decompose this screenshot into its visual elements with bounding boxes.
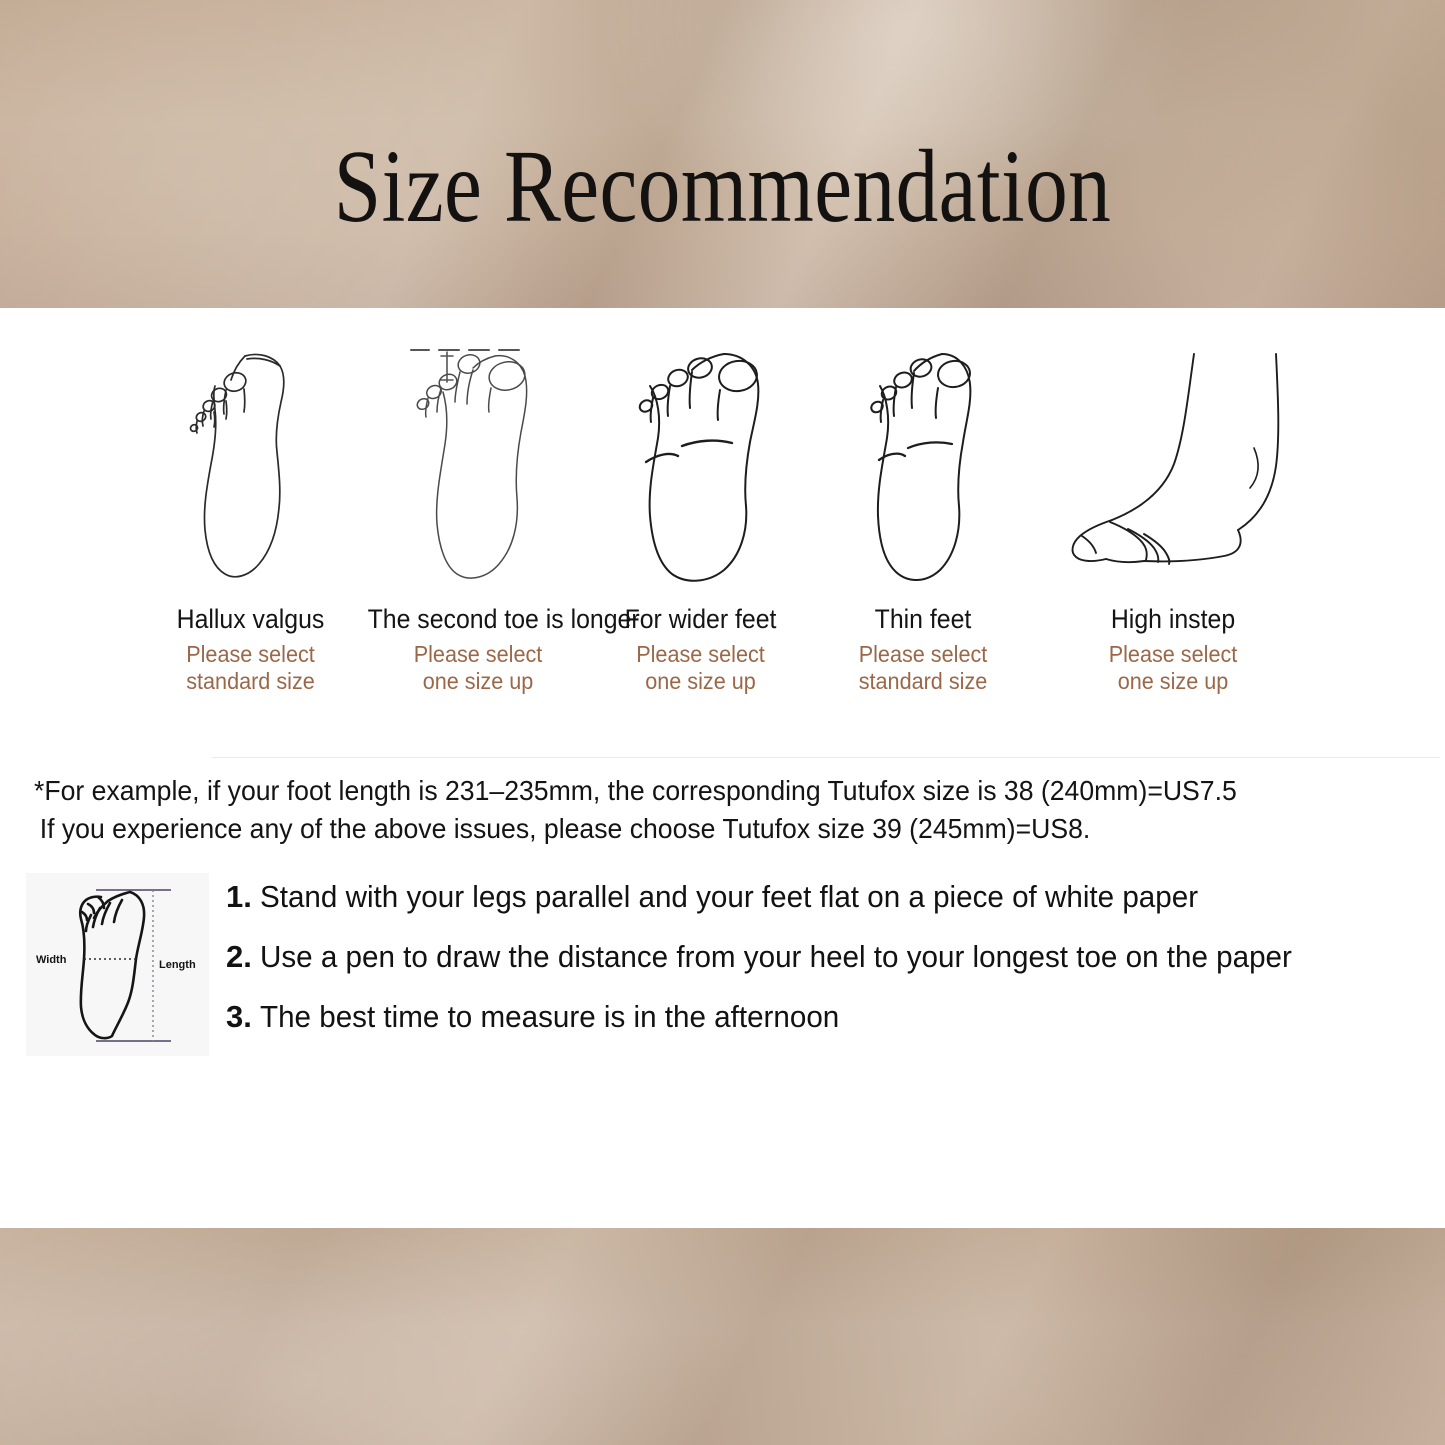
foot-type-note-line1: Please select [149,641,351,668]
step-number: 1. [226,880,260,914]
foot-type-label: Hallux valgus [151,604,349,635]
step-text: Use a pen to draw the distance from your… [260,940,1292,974]
example-line-1: *For example, if your foot length is 231… [34,772,1355,810]
foot-sole-thin-icon [858,340,988,590]
foot-art-container [803,340,1043,590]
example-paragraph: *For example, if your foot length is 231… [34,772,1355,848]
foot-type-row: Hallux valgus Please select standard siz… [0,340,1445,740]
step-text: Stand with your legs parallel and your f… [260,880,1198,914]
foot-type-note: Please select one size up [365,641,591,695]
foot-type-card-high-instep: High instep Please select one size up [1043,340,1303,695]
foot-type-note-line1: Please select [365,641,591,668]
foot-type-card-wide: For wider feet Please select one size up [598,340,803,695]
foot-type-note: Please select one size up [1050,641,1294,695]
foot-type-card-hallux-valgus: Hallux valgus Please select standard siz… [143,340,358,695]
foot-type-note-line2: one size up [604,668,797,695]
foot-type-card-thin: Thin feet Please select standard size [803,340,1043,695]
foot-art-container [358,340,598,590]
foot-type-note-line1: Please select [1050,641,1294,668]
foot-type-card-long-second-toe: The second toe is longer Please select o… [358,340,598,695]
measure-step: 2. Use a pen to draw the distance from y… [226,940,1436,974]
foot-type-note: Please select standard size [810,641,1036,695]
foot-art-container [598,340,803,590]
banner-sheen-overlay [0,1228,1445,1445]
foot-art-container [1043,340,1303,590]
foot-type-note-line2: standard size [149,668,351,695]
foot-type-note-line1: Please select [604,641,797,668]
foot-type-label: For wider feet [606,604,795,635]
section-divider [212,757,1440,758]
measure-step: 1. Stand with your legs parallel and you… [226,880,1436,914]
foot-type-label: Thin feet [812,604,1033,635]
measure-length-label: Length [159,959,196,971]
step-text: The best time to measure is in the after… [260,1000,839,1034]
foot-type-note: Please select standard size [149,641,351,695]
bottom-banner [0,1228,1445,1445]
foot-type-note: Please select one size up [604,641,797,695]
foot-art-container [143,340,358,590]
foot-type-label: The second toe is longer [367,604,588,635]
step-number: 2. [226,940,260,974]
example-line-2: If you experience any of the above issue… [34,810,1355,848]
foot-sole-hallux-valgus-icon [185,340,315,590]
measure-step: 3. The best time to measure is in the af… [226,1000,1436,1034]
measure-diagram-panel: Width Length [26,873,209,1056]
foot-type-note-line1: Please select [810,641,1036,668]
foot-sole-long-second-toe-icon [403,340,553,590]
foot-sole-wide-icon [620,340,780,590]
foot-profile-high-instep-icon [1048,340,1298,590]
measure-steps-list: 1. Stand with your legs parallel and you… [226,880,1436,1060]
measure-width-label: Width [36,954,67,966]
foot-measurement-diagram-icon: Width Length [26,873,209,1056]
foot-type-note-line2: standard size [810,668,1036,695]
foot-type-note-line2: one size up [1050,668,1294,695]
foot-type-label: High instep [1053,604,1292,635]
step-number: 3. [226,1000,260,1034]
page-title: Size Recommendation [130,135,1315,239]
foot-type-note-line2: one size up [365,668,591,695]
